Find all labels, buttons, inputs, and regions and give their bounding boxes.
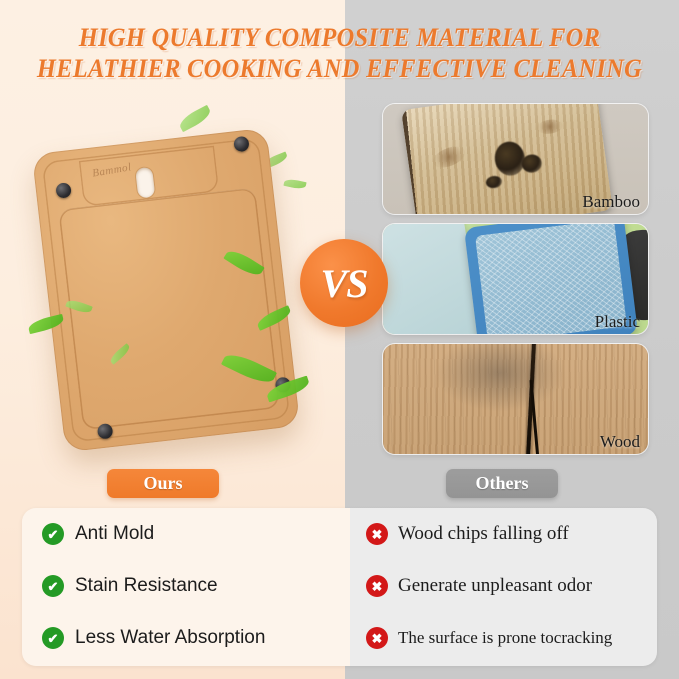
feature-label: Generate unpleasant odor [398, 575, 592, 597]
product-image: Bammol [26, 128, 326, 458]
check-circle-icon: ✔ [42, 575, 64, 597]
list-item: ✖ Wood chips falling off [350, 508, 657, 560]
photo-card-bamboo: Bamboo [383, 104, 648, 214]
infographic-canvas: HIGH QUALITY COMPOSITE MATERIAL FOR HELA… [0, 0, 679, 679]
check-circle-icon: ✔ [42, 627, 64, 649]
stain-spot [536, 118, 564, 135]
vs-label: VS [321, 260, 368, 307]
pros-list: ✔ Anti Mold ✔ Stain Resistance ✔ Less Wa… [22, 508, 350, 666]
leaf-decoration-icon [283, 178, 306, 190]
vs-badge: VS [300, 239, 388, 327]
list-item: ✖ Generate unpleasant odor [350, 560, 657, 612]
others-label-badge: Others [446, 469, 558, 498]
photo-card-plastic: Plastic [383, 224, 648, 334]
feature-label: Anti Mold [75, 523, 154, 545]
ours-label-badge: Ours [107, 469, 219, 498]
cross-circle-icon: ✖ [366, 575, 388, 597]
ours-label-text: Ours [143, 473, 182, 494]
feature-label: Stain Resistance [75, 575, 218, 597]
photo-caption: Plastic [595, 312, 640, 332]
cross-circle-icon: ✖ [366, 523, 388, 545]
photo-caption: Bamboo [582, 192, 640, 212]
photo-card-wood: Wood [383, 344, 648, 454]
stain-spot [430, 142, 468, 171]
list-item: ✖ The surface is prone tocracking [350, 612, 657, 664]
feature-comparison-panel: ✔ Anti Mold ✔ Stain Resistance ✔ Less Wa… [22, 508, 657, 666]
list-item: ✔ Stain Resistance [22, 560, 350, 612]
list-item: ✔ Less Water Absorption [22, 612, 350, 664]
mold-spot [521, 153, 543, 174]
list-item: ✔ Anti Mold [22, 508, 350, 560]
page-title: HIGH QUALITY COMPOSITE MATERIAL FOR HELA… [20, 22, 658, 84]
feature-label: Wood chips falling off [398, 523, 569, 545]
composite-cutting-board: Bammol [32, 128, 300, 453]
cross-circle-icon: ✖ [366, 627, 388, 649]
check-circle-icon: ✔ [42, 523, 64, 545]
feature-label: The surface is prone tocracking [398, 628, 612, 648]
others-label-text: Others [476, 473, 529, 494]
mold-spot [485, 175, 503, 189]
photo-caption: Wood [600, 432, 640, 452]
cons-list: ✖ Wood chips falling off ✖ Generate unpl… [350, 508, 657, 666]
feature-label: Less Water Absorption [75, 627, 265, 649]
